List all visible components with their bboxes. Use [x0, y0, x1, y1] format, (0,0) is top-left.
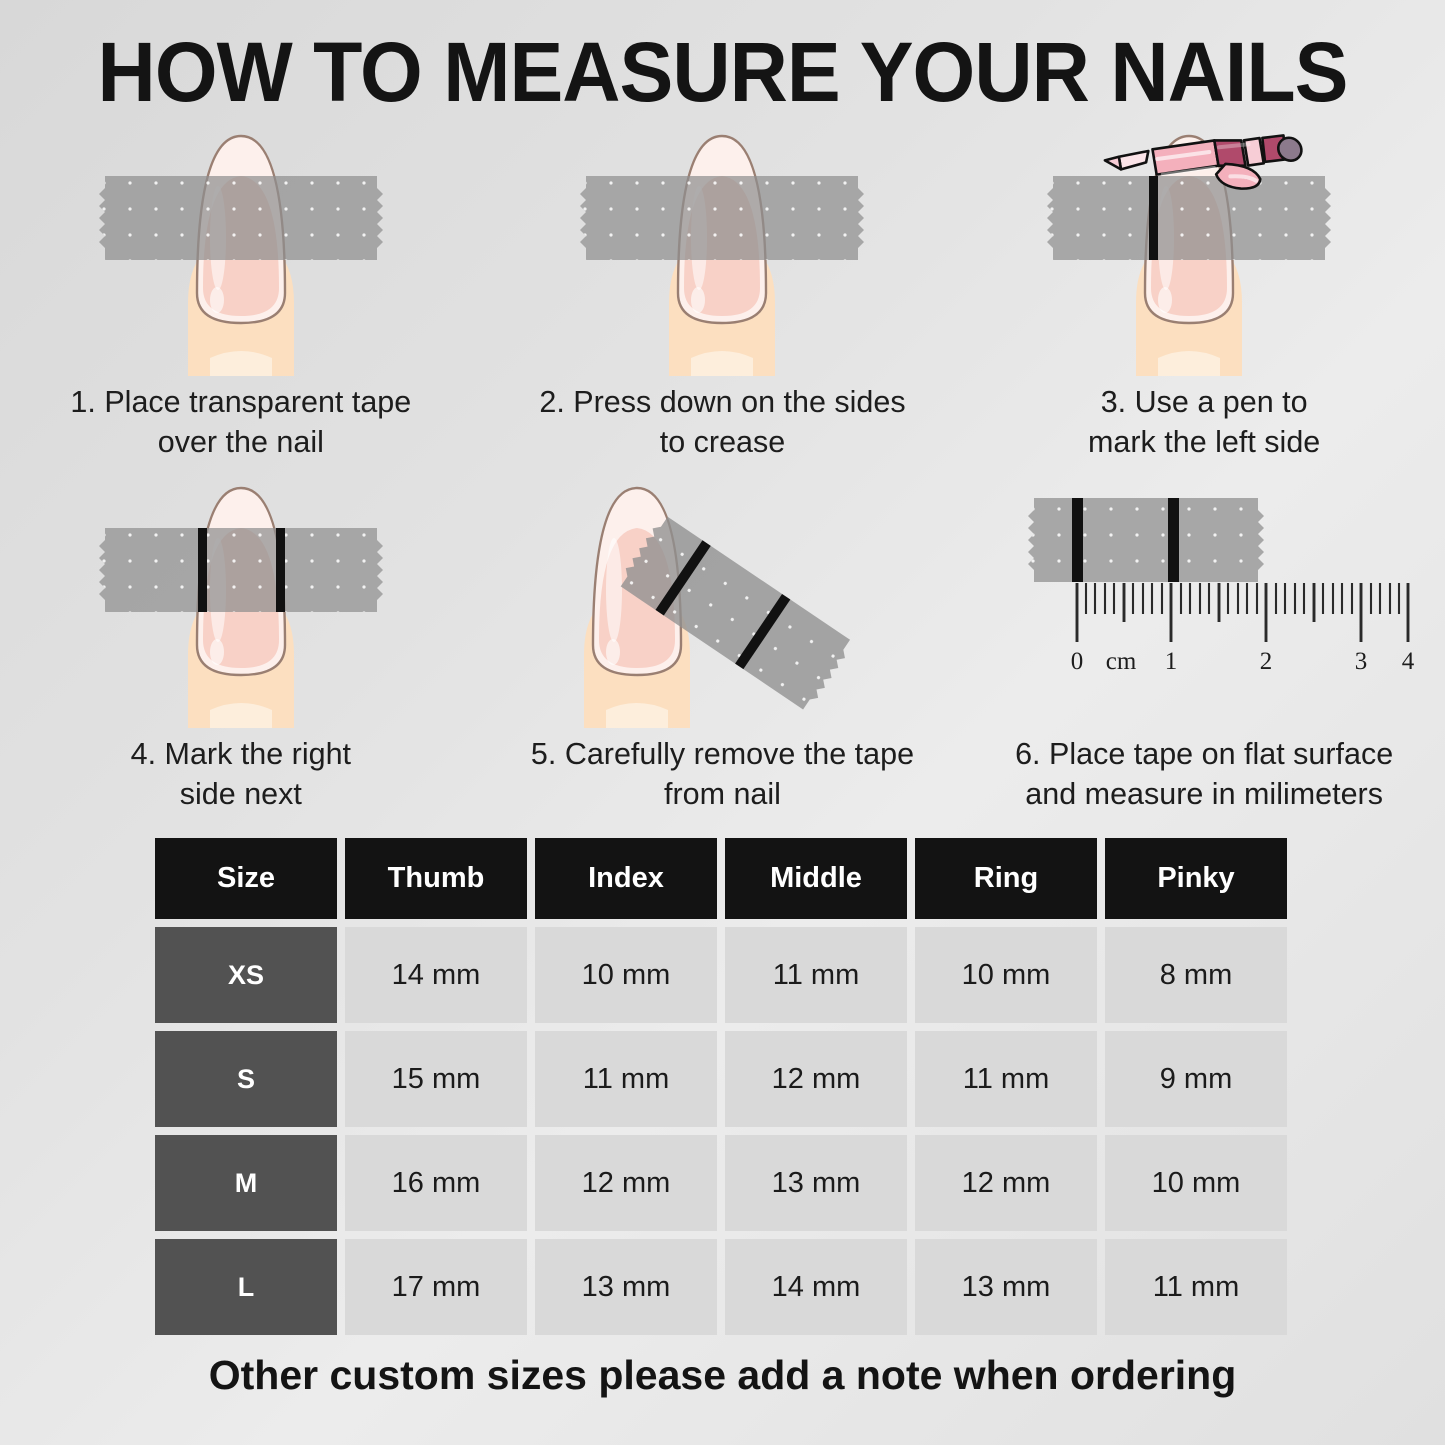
cell-thumb: 14 mm: [345, 927, 527, 1023]
cell-thumb: 15 mm: [345, 1031, 527, 1127]
step-3-line-2: mark the left side: [977, 422, 1431, 462]
cell-index: 12 mm: [535, 1135, 717, 1231]
ruler-tick-4: 4: [1402, 648, 1414, 675]
step-2-caption: 2. Press down on the sides to crease: [482, 376, 964, 462]
ruler-tick-1: 1: [1165, 648, 1178, 675]
step-5-line-1: 5. Carefully remove the tape: [496, 734, 950, 774]
step-4-line-2: side next: [14, 774, 468, 814]
cell-pinky: 10 mm: [1105, 1135, 1287, 1231]
page-title: HOW TO MEASURE YOUR NAILS: [29, 24, 1416, 121]
ruler-tick-3: 3: [1355, 648, 1368, 675]
step-3-caption: 3. Use a pen to mark the left side: [963, 376, 1445, 462]
ruler-labels: 0 cm 1 2 3 4 5: [1071, 648, 1414, 675]
step-3-illustration: [963, 118, 1445, 376]
table-header-row: Size Thumb Index Middle Ring Pinky: [155, 838, 1323, 919]
tape-strip: [1028, 498, 1264, 582]
cell-index: 11 mm: [535, 1031, 717, 1127]
step-1-caption: 1. Place transparent tape over the nail: [0, 376, 482, 462]
cell-middle: 11 mm: [725, 927, 907, 1023]
column-header-size: Size: [155, 838, 337, 919]
row-size-label: XS: [155, 927, 337, 1023]
size-chart-table: Size Thumb Index Middle Ring Pinky XS 14…: [155, 838, 1323, 1343]
ruler-unit-label: cm: [1106, 648, 1137, 675]
cell-middle: 14 mm: [725, 1239, 907, 1335]
cell-ring: 13 mm: [915, 1239, 1097, 1335]
tape-strip: [99, 176, 383, 260]
step-4-caption: 4. Mark the right side next: [0, 728, 482, 814]
right-mark: [276, 528, 285, 612]
cell-pinky: 11 mm: [1105, 1239, 1287, 1335]
ruler-tick-0: 0: [1071, 648, 1084, 675]
step-6-line-1: 6. Place tape on flat surface: [977, 734, 1431, 774]
column-header-ring: Ring: [915, 838, 1097, 919]
cell-middle: 13 mm: [725, 1135, 907, 1231]
table-row: XS 14 mm 10 mm 11 mm 10 mm 8 mm: [155, 927, 1323, 1023]
steps-row-top: 1. Place transparent tape over the nail: [0, 118, 1445, 462]
column-header-index: Index: [535, 838, 717, 919]
step-5-line-2: from nail: [496, 774, 950, 814]
ruler-icon: [1077, 583, 1408, 642]
table-row: S 15 mm 11 mm 12 mm 11 mm 9 mm: [155, 1031, 1323, 1127]
step-5: 5. Carefully remove the tape from nail: [482, 470, 964, 814]
cell-index: 10 mm: [535, 927, 717, 1023]
step-6-illustration: 0 cm 1 2 3 4 5: [963, 470, 1445, 728]
ruler-tick-2: 2: [1260, 648, 1273, 675]
step-1: 1. Place transparent tape over the nail: [0, 118, 482, 462]
row-size-label: L: [155, 1239, 337, 1335]
step-3-line-1: 3. Use a pen to: [977, 382, 1431, 422]
cell-pinky: 8 mm: [1105, 927, 1287, 1023]
tape-strip: [1047, 176, 1331, 260]
step-2-line-2: to crease: [496, 422, 950, 462]
cell-thumb: 17 mm: [345, 1239, 527, 1335]
column-header-middle: Middle: [725, 838, 907, 919]
infographic-page: HOW TO MEASURE YOUR NAILS: [0, 0, 1445, 1445]
column-header-pinky: Pinky: [1105, 838, 1287, 919]
cell-index: 13 mm: [535, 1239, 717, 1335]
cell-ring: 11 mm: [915, 1031, 1097, 1127]
left-mark: [1149, 176, 1158, 260]
left-mark: [198, 528, 207, 612]
step-4: 4. Mark the right side next: [0, 470, 482, 814]
tape-strip: [580, 176, 864, 260]
right-mark: [1168, 498, 1179, 582]
column-header-thumb: Thumb: [345, 838, 527, 919]
step-5-caption: 5. Carefully remove the tape from nail: [482, 728, 964, 814]
table-row: L 17 mm 13 mm 14 mm 13 mm 11 mm: [155, 1239, 1323, 1335]
row-size-label: M: [155, 1135, 337, 1231]
tape-strip: [99, 528, 383, 612]
step-1-illustration: [0, 118, 482, 376]
step-6-line-2: and measure in milimeters: [977, 774, 1431, 814]
step-2-line-1: 2. Press down on the sides: [496, 382, 950, 422]
cell-thumb: 16 mm: [345, 1135, 527, 1231]
step-1-line-1: 1. Place transparent tape: [14, 382, 468, 422]
cell-ring: 12 mm: [915, 1135, 1097, 1231]
step-6-caption: 6. Place tape on flat surface and measur…: [963, 728, 1445, 814]
table-row: M 16 mm 12 mm 13 mm 12 mm 10 mm: [155, 1135, 1323, 1231]
steps-row-bottom: 4. Mark the right side next: [0, 470, 1445, 814]
steps-grid: 1. Place transparent tape over the nail: [0, 118, 1445, 814]
step-3: 3. Use a pen to mark the left side: [963, 118, 1445, 462]
step-4-line-1: 4. Mark the right: [14, 734, 468, 774]
left-mark: [1072, 498, 1083, 582]
cell-middle: 12 mm: [725, 1031, 907, 1127]
step-1-line-2: over the nail: [14, 422, 468, 462]
step-2: 2. Press down on the sides to crease: [482, 118, 964, 462]
step-6: 0 cm 1 2 3 4 5 6. Place tape on flat sur…: [963, 470, 1445, 814]
step-4-illustration: [0, 470, 482, 728]
cell-pinky: 9 mm: [1105, 1031, 1287, 1127]
footer-note: Other custom sizes please add a note whe…: [0, 1352, 1445, 1399]
cell-ring: 10 mm: [915, 927, 1097, 1023]
step-2-illustration: [482, 118, 964, 376]
row-size-label: S: [155, 1031, 337, 1127]
step-5-illustration: [482, 470, 964, 728]
